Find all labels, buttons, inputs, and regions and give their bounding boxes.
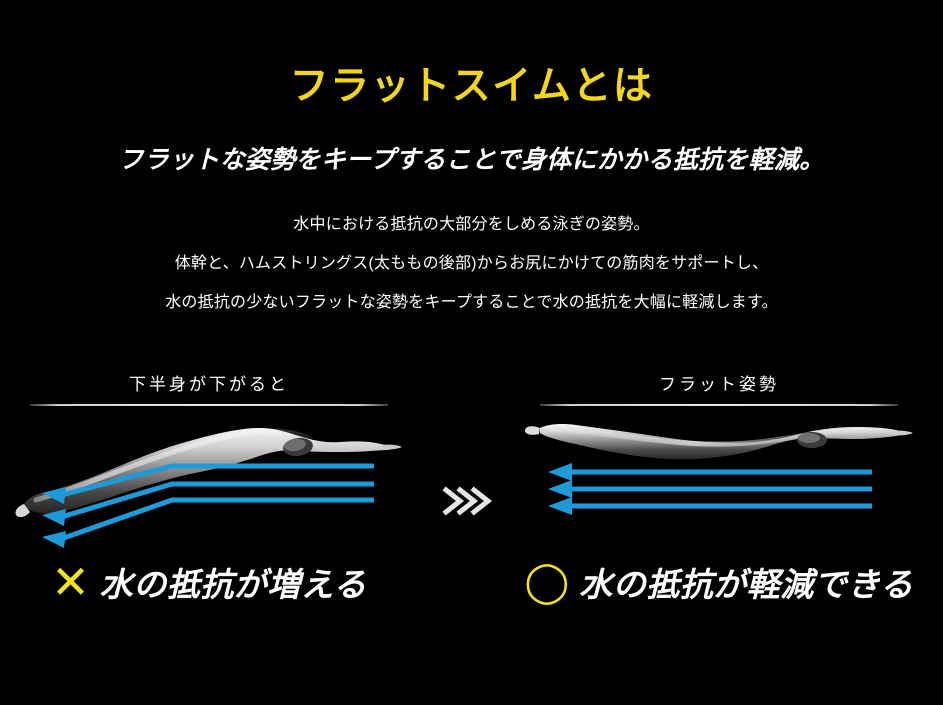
page-title: フラットスイムとは (0, 66, 943, 109)
page-subtitle: フラットな姿勢をキープすることで身体にかかる抵抗を軽減。 (0, 140, 943, 176)
body-copy: 水中における抵抗の大部分をしめる泳ぎの姿勢。 体幹と、ハムストリングス(太ももの… (0, 205, 943, 323)
flat-swim-infographic: フラットスイムとは フラットな姿勢をキープすることで身体にかかる抵抗を軽減。 水… (0, 0, 943, 705)
drag-arrows-flat (524, 462, 914, 554)
panel-heading-right: フラット姿勢 (524, 370, 914, 395)
body-line-1: 水中における抵抗の大部分をしめる泳ぎの姿勢。 (0, 205, 943, 244)
triple-chevron-right-icon (440, 482, 504, 520)
verdict-sinking: ✕ 水の抵抗が増える (14, 558, 404, 606)
drag-arrows-sinking (14, 462, 404, 554)
verdict-flat: ◯ 水の抵抗が軽減できる (524, 558, 914, 606)
body-line-2: 体幹と、ハムストリングス(太ももの後部)からお尻にかけての筋肉をサポートし、 (0, 244, 943, 283)
body-line-3: 水の抵抗の少ないフラットな姿勢をキープすることで水の抵抗を大幅に軽減します。 (0, 283, 943, 322)
panel-flat-posture: フラット姿勢 (524, 370, 914, 640)
panel-divider-right (540, 404, 898, 406)
verdict-text-sinking: 水の抵抗が増える (100, 558, 367, 606)
swimmer-body-flat (525, 424, 913, 459)
circle-mark-icon: ◯ (524, 562, 569, 602)
panel-heading-left: 下半身が下がると (14, 370, 404, 395)
panel-divider-left (30, 404, 388, 406)
verdict-text-flat: 水の抵抗が軽減できる (579, 558, 913, 606)
cross-mark-icon: ✕ (51, 559, 90, 605)
panel-sinking-legs: 下半身が下がると (14, 370, 404, 640)
